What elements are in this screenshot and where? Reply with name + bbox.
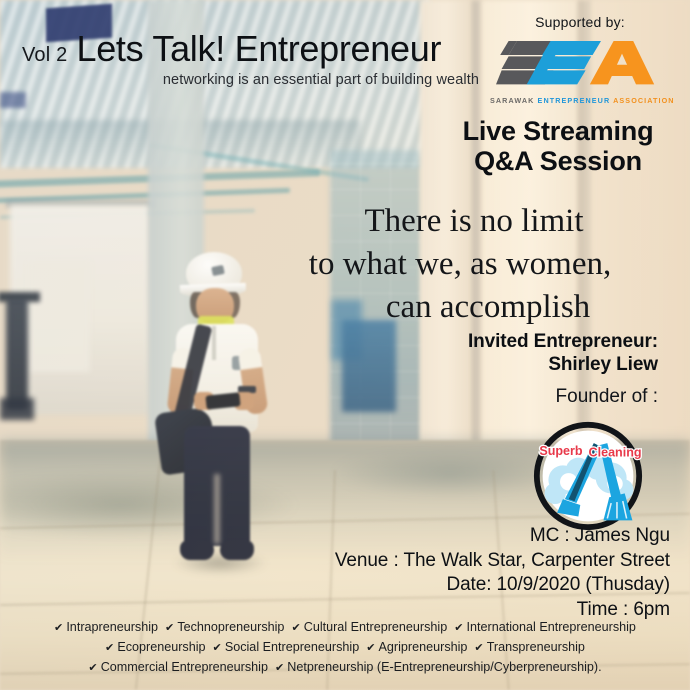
volume-label: Vol 2 [22,44,67,67]
topic-tags-line: ✔ Commercial Entrepreneurship ✔ Netprene… [10,658,680,678]
topic-tag: Commercial Entrepreneurship [101,660,275,674]
invited-guest-block: Invited Entrepreneur: Shirley Liew [400,330,658,376]
topic-tags-block: ✔ Intrapreneurship ✔ Technopreneurship ✔… [10,618,680,678]
topic-tag: Social Entrepreneurship [225,640,366,654]
superb-cleaning-logo-icon: Superb Cleaning [530,420,646,532]
topic-tag: Cultural Entrepreneurship [304,620,455,634]
quote-line-2: to what we, as women, [250,243,670,286]
check-icon: ✔ [165,622,177,634]
check-icon: ✔ [275,662,287,674]
topic-tag: International Entrepreneurship [467,620,636,634]
event-mc: MC : James Ngu [300,524,670,549]
supported-by-label: Supported by: [490,14,670,30]
text-overlay: Vol 2 Lets Talk! Entrepreneur networking… [0,0,690,690]
sea-sub-word3: ASSOCIATION [613,96,674,105]
title-subtitle: networking is an essential part of build… [22,72,482,88]
quote-line-1: There is no limit [250,200,670,243]
topic-tag: Netpreneurship (E-Entrepreneurship/Cyber… [287,660,601,674]
topic-tag: Ecopreneurship [117,640,212,654]
topic-tags-line: ✔ Intrapreneurship ✔ Technopreneurship ✔… [10,618,680,638]
logo-word-cleaning: Cleaning [589,446,642,460]
event-details-block: MC : James Ngu Venue : The Walk Star, Ca… [300,524,670,623]
event-venue: Venue : The Walk Star, Carpenter Street [300,549,670,574]
topic-tags-line: ✔ Ecopreneurship ✔ Social Entrepreneursh… [10,638,680,658]
topic-tag: Technopreneurship [177,620,291,634]
quote-block: There is no limit to what we, as women, … [250,200,670,329]
topic-tag: Agripreneurship [379,640,475,654]
sponsor-block: Supported by: SARAWAK ENTREPRENEUR ASS [490,14,670,105]
title-line: Vol 2 Lets Talk! Entrepreneur [22,28,482,70]
logo-word-superb: Superb [539,444,583,458]
invited-name: Shirley Liew [400,353,658,376]
check-icon: ✔ [366,642,378,654]
check-icon: ✔ [54,622,66,634]
check-icon: ✔ [88,662,100,674]
topic-tag: Intrapreneurship [66,620,165,634]
event-poster: Vol 2 Lets Talk! Entrepreneur networking… [0,0,690,690]
title-block: Vol 2 Lets Talk! Entrepreneur networking… [22,28,482,88]
check-icon: ✔ [105,642,117,654]
sea-sub-word1: SARAWAK [490,96,534,105]
sea-logo-subtitle: SARAWAK ENTREPRENEUR ASSOCIATION [490,96,670,105]
sea-sub-word2: ENTREPRENEUR [538,96,611,105]
quote-line-3: can accomplish [250,286,670,329]
check-icon: ✔ [474,642,486,654]
founder-label: Founder of : [400,386,658,408]
session-line-2: Q&A Session [430,146,686,176]
invited-label: Invited Entrepreneur: [400,330,658,353]
check-icon: ✔ [454,622,466,634]
check-icon: ✔ [291,622,303,634]
check-icon: ✔ [213,642,225,654]
event-date: Date: 10/9/2020 (Thusday) [300,573,670,598]
session-line-1: Live Streaming [430,116,686,146]
sea-logo-icon [496,34,664,90]
topic-tag: Transpreneurship [487,640,585,654]
session-heading: Live Streaming Q&A Session [430,116,686,176]
page-title: Lets Talk! Entrepreneur [76,28,441,70]
